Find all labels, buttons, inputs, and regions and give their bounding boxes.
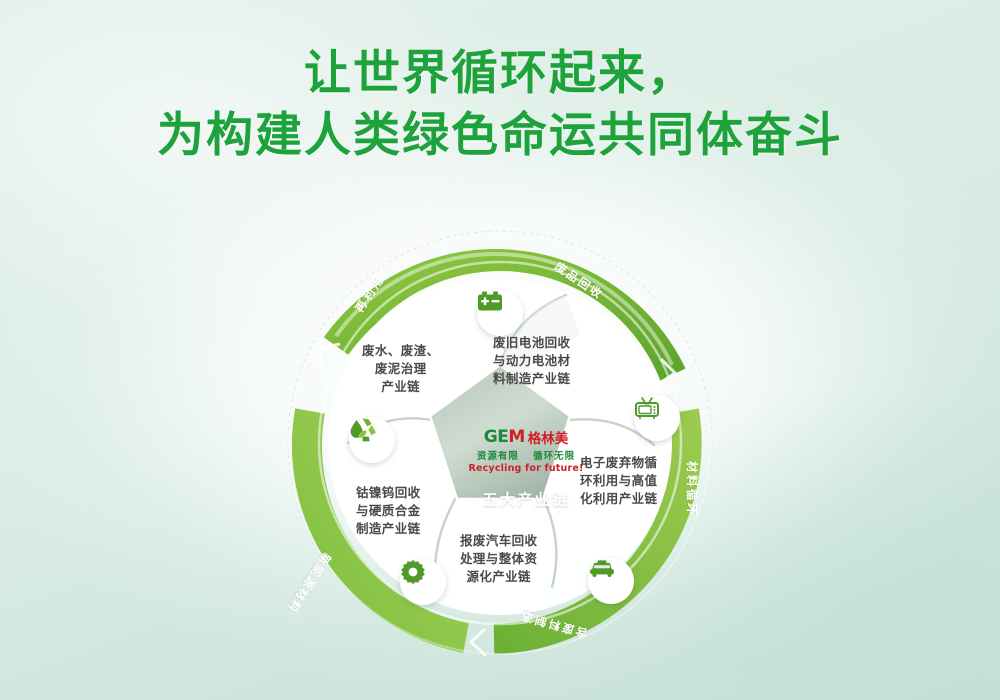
five-chains-caption: 五大产业链 <box>465 488 587 510</box>
gem-wordmark: GEM <box>484 427 525 447</box>
gem-logo: GEM 格林美 资源有限 循环无限 Recycling for future! <box>465 427 587 474</box>
icon-bubble-tv <box>634 395 680 441</box>
chain-water-line1: 废水、废渣、 <box>362 343 439 361</box>
chain-metal-line2: 与硬质合金 <box>356 503 421 521</box>
chain-auto-line3: 源化产业链 <box>460 569 537 587</box>
chain-metal-line1: 钴镍钨回收 <box>356 485 421 503</box>
chain-ewaste-line2: 环利用与高值 <box>580 473 657 491</box>
logo-slogan-right: 循环无限 <box>533 451 575 462</box>
icon-bubble-recycle <box>349 417 395 463</box>
title-line-2: 为构建人类绿色命运共同体奋斗 <box>0 104 1000 166</box>
chain-label-metal: 钴镍钨回收 与硬质合金 制造产业链 <box>356 485 421 538</box>
chain-water-line2: 废泥治理 <box>362 361 439 379</box>
logo-slogan: 资源有限 循环无限 <box>465 448 587 462</box>
circular-diagram: GEM 格林美 资源有限 循环无限 Recycling for future! … <box>280 215 720 675</box>
chain-ewaste-line1: 电子废弃物循 <box>580 455 657 473</box>
chain-auto-line1: 报废汽车回收 <box>460 533 537 551</box>
title-line-1: 让世界循环起来， <box>0 42 1000 104</box>
logo-mark-row: GEM 格林美 <box>465 427 587 447</box>
logo-english-slogan: Recycling for future! <box>465 463 587 474</box>
logo-slogan-left: 资源有限 <box>477 451 519 462</box>
chain-label-auto: 报废汽车回收 处理与整体资 源化产业链 <box>460 533 537 586</box>
chain-label-battery: 废旧电池回收 与动力电池材 料制造产业链 <box>493 335 570 388</box>
icon-bubble-gear <box>400 559 446 605</box>
ring-label-material-recycling: 材料循环 <box>684 461 700 517</box>
chain-battery-line2: 与动力电池材 <box>493 353 570 371</box>
chain-battery-line3: 料制造产业链 <box>493 371 570 389</box>
chain-water-line3: 产业链 <box>362 379 439 397</box>
icon-bubble-battery <box>477 290 523 336</box>
chain-label-water: 废水、废渣、 废泥治理 产业链 <box>362 343 439 396</box>
chain-ewaste-line3: 化利用产业链 <box>580 491 657 509</box>
chain-metal-line3: 制造产业链 <box>356 521 421 539</box>
chain-auto-line2: 处理与整体资 <box>460 551 537 569</box>
chain-battery-line1: 废旧电池回收 <box>493 335 570 353</box>
icon-bubble-car <box>588 558 634 604</box>
page-title: 让世界循环起来， 为构建人类绿色命运共同体奋斗 <box>0 42 1000 166</box>
gem-chinese-name: 格林美 <box>528 427 569 447</box>
chain-label-ewaste: 电子废弃物循 环利用与高值 化利用产业链 <box>580 455 657 508</box>
